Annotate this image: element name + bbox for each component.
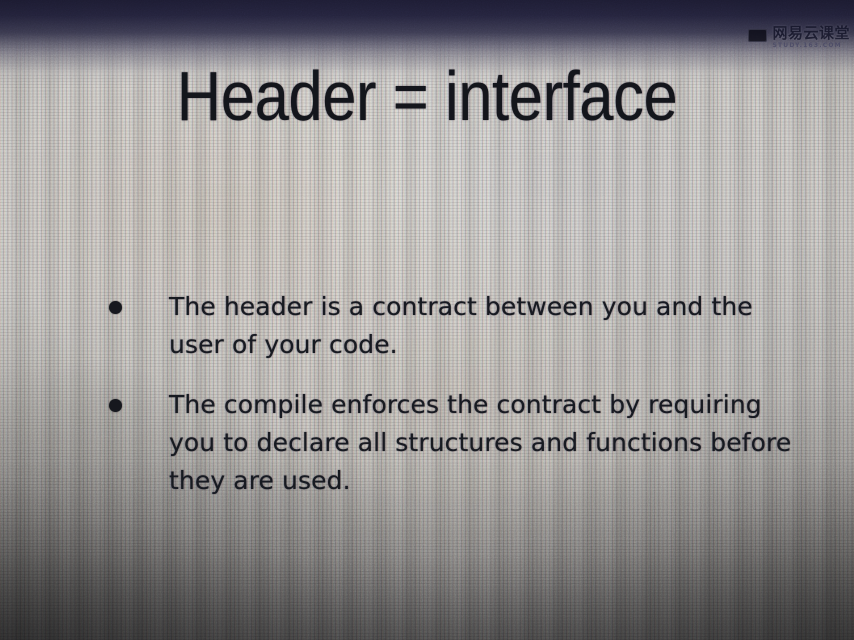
watermark-latin-label: STUDY.163.COM bbox=[772, 43, 850, 49]
slide-title: Header = interface bbox=[51, 58, 803, 134]
bullet-text: The compile enforces the contract by req… bbox=[104, 386, 794, 500]
slide-content: Header = interface The header is a contr… bbox=[0, 0, 854, 640]
watermark: 网易云课堂 STUDY.163.COM bbox=[748, 26, 850, 49]
bullet-text: The header is a contract between you and… bbox=[104, 288, 794, 364]
bullet-dot-icon bbox=[109, 399, 122, 412]
bullet-dot-icon bbox=[109, 301, 122, 314]
list-item: The header is a contract between you and… bbox=[104, 288, 794, 364]
screenshot-root: Header = interface The header is a contr… bbox=[0, 0, 854, 640]
slide-bullet-list: The header is a contract between you and… bbox=[104, 288, 794, 522]
netease-square-logo-icon bbox=[748, 29, 767, 42]
watermark-text-stack: 网易云课堂 STUDY.163.COM bbox=[772, 26, 850, 49]
list-item: The compile enforces the contract by req… bbox=[104, 386, 794, 500]
watermark-chinese-label: 网易云课堂 bbox=[772, 26, 850, 41]
